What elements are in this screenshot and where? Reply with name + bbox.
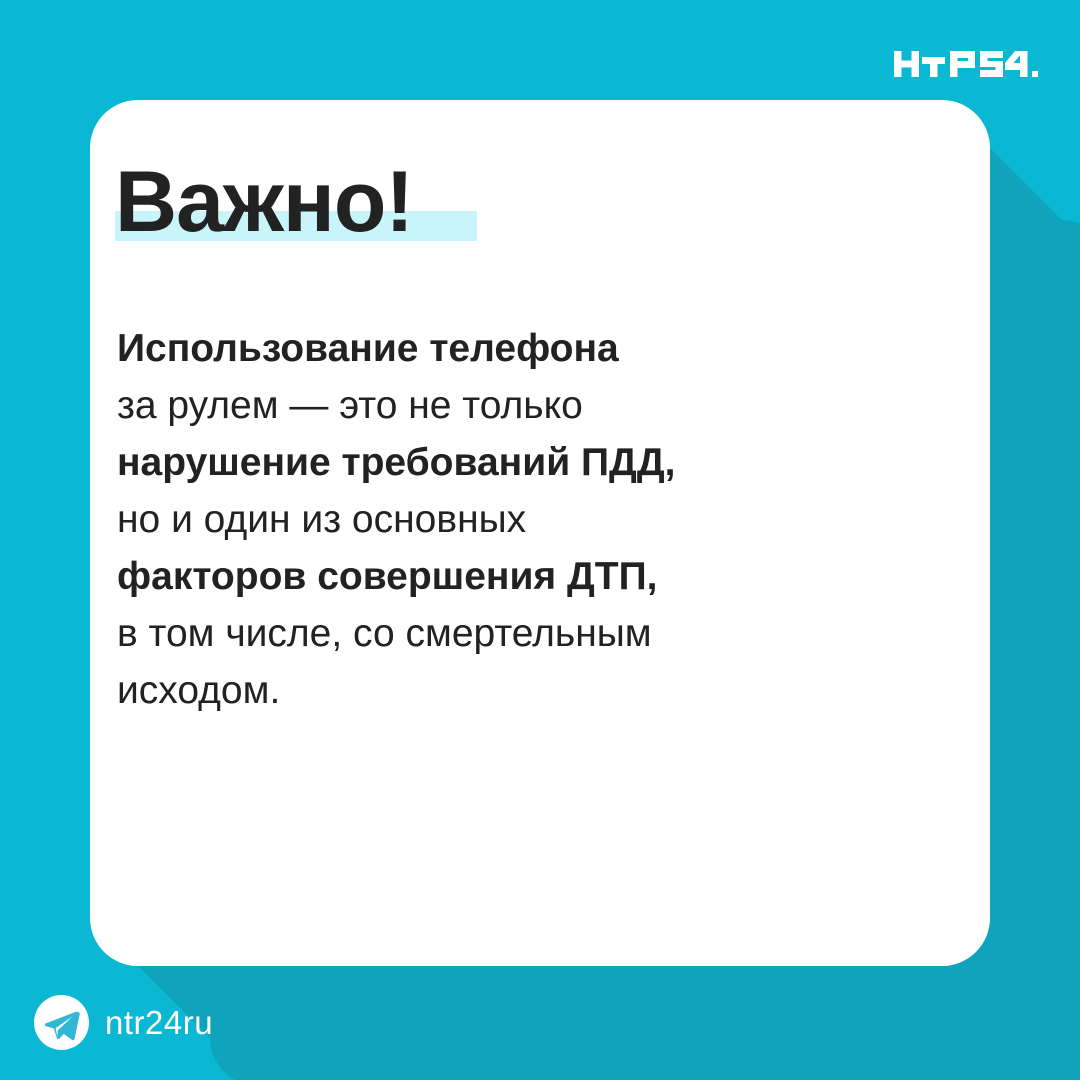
headline-block: Важно! [115,155,413,249]
body-line: в том числе, со смертельным [117,605,817,662]
page-title: Важно! [115,155,413,249]
body-line: за рулем — это не только [117,377,817,434]
telegram-icon [34,995,89,1050]
telegram-handle-text: ntr24ru [105,1006,213,1039]
ntr24-logo: НТР24· [894,42,1042,84]
body-line: но и один из основных [117,491,817,548]
body-line: Использование телефона [117,320,817,377]
poster-canvas: НТР24· Важно! Использование телефона за … [0,0,1080,1080]
body-line: нарушение требований ПДД, [117,434,817,491]
body-line: факторов совершения ДТП, [117,548,817,605]
body-copy: Использование телефона за рулем — это не… [117,320,817,719]
body-line: исходом. [117,662,817,719]
telegram-badge[interactable]: ntr24ru [34,995,213,1050]
